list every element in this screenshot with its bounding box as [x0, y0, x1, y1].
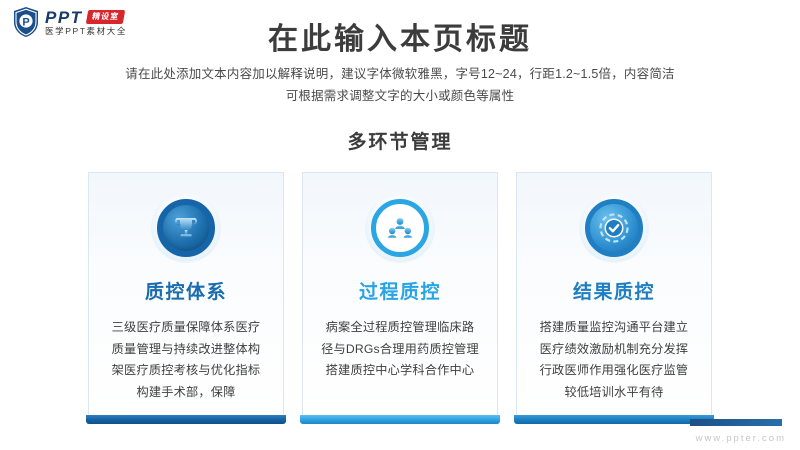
card-1-body: 三级医疗质量保障体系医疗质量管理与持续改进整体构架医疗质控考核与优化指标构建手术…: [106, 317, 266, 404]
trophy-icon: [151, 193, 221, 263]
card-2-body: 病案全过程质控管理临床路径与DRGs合理用药质控管理搭建质控中心学科合作中心: [320, 317, 480, 382]
card-3-body: 搭建质量监控沟通平台建立医疗绩效激励机制充分发挥行政医师作用强化医疗监管较低培训…: [534, 317, 694, 404]
people-network-icon: [365, 193, 435, 263]
card-3-icon-area: [579, 193, 649, 263]
card-3-title: 结果质控: [573, 277, 655, 304]
card-process-quality-control[interactable]: 过程质控 病案全过程质控管理临床路径与DRGs合理用药质控管理搭建质控中心学科合…: [302, 172, 498, 415]
card-1-icon-area: [151, 193, 221, 263]
card-3-base-bar: [514, 415, 714, 424]
watermark-text: www.ppter.com: [696, 433, 786, 444]
card-2-icon-area: [365, 193, 435, 263]
card-result-quality-control[interactable]: 结果质控 搭建质量监控沟通平台建立医疗绩效激励机制充分发挥行政医师作用强化医疗监…: [516, 172, 712, 415]
card-group: 质控体系 三级医疗质量保障体系医疗质量管理与持续改进整体构架医疗质控考核与优化指…: [88, 172, 712, 424]
section-heading: 多环节管理: [0, 127, 800, 154]
card-wrapper-1: 质控体系 三级医疗质量保障体系医疗质量管理与持续改进整体构架医疗质控考核与优化指…: [88, 172, 284, 424]
card-wrapper-3: 结果质控 搭建质量监控沟通平台建立医疗绩效激励机制充分发挥行政医师作用强化医疗监…: [516, 172, 712, 424]
card-2-title: 过程质控: [359, 277, 441, 304]
card-2-base-bar: [300, 415, 500, 424]
check-circle-icon: [579, 193, 649, 263]
slide-canvas: P PPT 精设室 医学PPT素材大全 在此输入本页标题 请在此处添加文本内容加…: [0, 0, 800, 450]
subtitle-line-2: 可根据需求调整文字的大小或颜色等属性: [90, 86, 710, 108]
subtitle-line-1: 请在此处添加文本内容加以解释说明，建议字体微软雅黑，字号12~24，行距1.2~…: [90, 64, 710, 86]
card-quality-control-system[interactable]: 质控体系 三级医疗质量保障体系医疗质量管理与持续改进整体构架医疗质控考核与优化指…: [88, 172, 284, 415]
page-title: 在此输入本页标题: [0, 14, 800, 58]
watermark-bar: [690, 419, 782, 426]
card-1-base-bar: [86, 415, 286, 424]
page-subtitle: 请在此处添加文本内容加以解释说明，建议字体微软雅黑，字号12~24，行距1.2~…: [90, 64, 710, 108]
card-wrapper-2: 过程质控 病案全过程质控管理临床路径与DRGs合理用药质控管理搭建质控中心学科合…: [302, 172, 498, 424]
card-1-title: 质控体系: [145, 277, 227, 304]
